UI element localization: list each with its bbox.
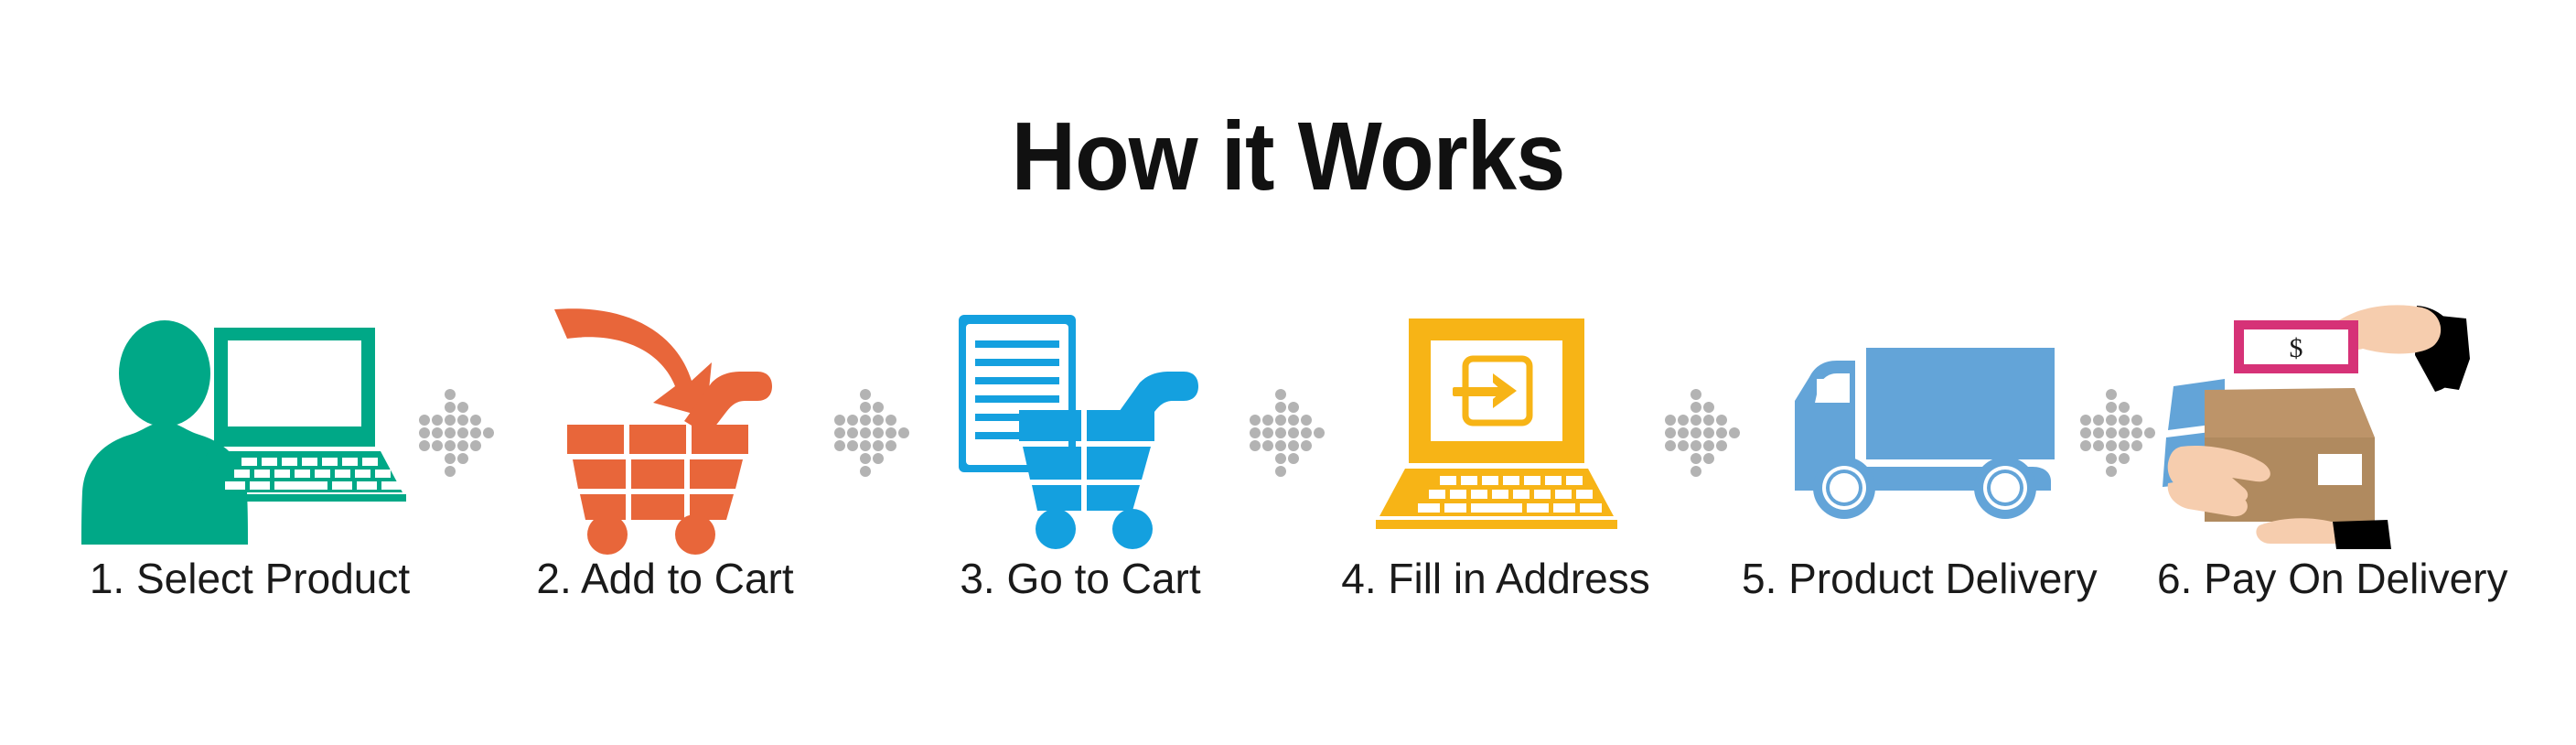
step-5-product-delivery[interactable]: 5. Product Delivery bbox=[1742, 302, 2080, 668]
step-1-select-product[interactable]: 1. Select Product bbox=[80, 302, 419, 668]
step-label: 1. Select Product bbox=[80, 556, 419, 600]
black-sleeve-lower bbox=[2333, 520, 2391, 549]
shopping-cart-with-down-arrow-icon bbox=[496, 302, 834, 549]
dotted-right-arrow-icon bbox=[834, 302, 911, 549]
dotted-right-arrow-icon bbox=[419, 302, 496, 549]
step-label: 5. Product Delivery bbox=[1742, 556, 2080, 600]
page-title: How it Works bbox=[103, 108, 2474, 205]
person-with-laptop-icon bbox=[80, 302, 419, 549]
step-6-pay-on-delivery[interactable]: $ bbox=[2157, 302, 2495, 668]
step-3-go-to-cart[interactable]: 3. Go to Cart bbox=[911, 302, 1250, 668]
document-with-cart-icon bbox=[911, 302, 1250, 549]
steps-row: 1. Select Product bbox=[0, 302, 2576, 668]
step-2-add-to-cart[interactable]: 2. Add to Cart bbox=[496, 302, 834, 668]
laptop-with-login-arrow-icon bbox=[1326, 302, 1665, 549]
step-label: 6. Pay On Delivery bbox=[2157, 556, 2495, 600]
dollar-symbol: $ bbox=[2290, 333, 2303, 363]
dotted-right-arrow-icon bbox=[1665, 302, 1742, 549]
hands-exchanging-box-and-cash-icon: $ bbox=[2157, 302, 2495, 549]
step-4-fill-in-address[interactable]: 4. Fill in Address bbox=[1326, 302, 1665, 668]
receiving-hand bbox=[2256, 518, 2391, 549]
shipping-label bbox=[2318, 454, 2362, 485]
dotted-right-arrow-icon bbox=[1250, 302, 1326, 549]
infographic-root: How it Works bbox=[0, 0, 2576, 745]
delivery-truck-icon bbox=[1742, 302, 2080, 549]
dotted-right-arrow-icon bbox=[2080, 302, 2157, 549]
money-note: $ bbox=[2234, 320, 2358, 373]
step-label: 3. Go to Cart bbox=[911, 556, 1250, 600]
step-label: 4. Fill in Address bbox=[1326, 556, 1665, 600]
step-label: 2. Add to Cart bbox=[496, 556, 834, 600]
